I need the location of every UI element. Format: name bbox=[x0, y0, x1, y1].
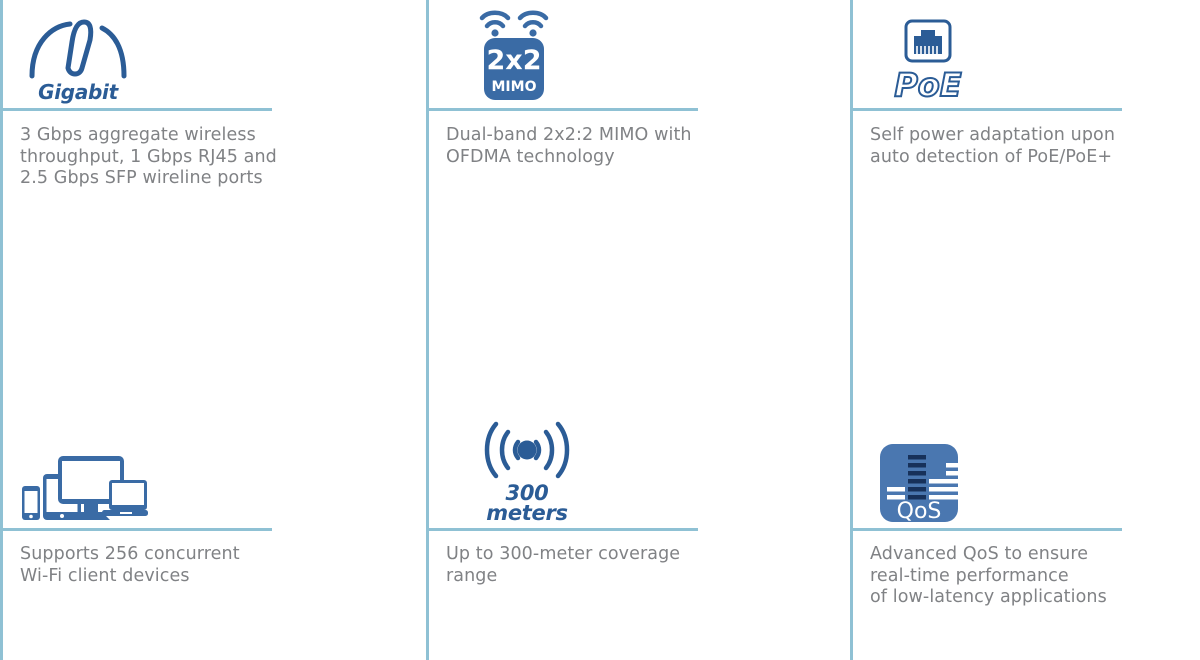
column-divider-vertical bbox=[426, 420, 429, 660]
feature-cell-coverage: 300 meters Up to 300-meter coverage rang… bbox=[426, 210, 850, 420]
poe-description: Self power adaptation upon auto detectio… bbox=[870, 125, 1170, 168]
cell-divider-horizontal bbox=[426, 108, 698, 111]
feature-cell-mimo: 2x2 MIMO Dual-band 2x2:2 MIMO with OFDMA… bbox=[426, 0, 850, 210]
column-divider-vertical bbox=[850, 420, 853, 660]
poe-icon-area: PoE bbox=[850, 0, 978, 104]
feature-cell-qos: QoS Advanced QoS to ensure real-time per… bbox=[850, 210, 1200, 420]
feature-cell-poe: PoE Self power adaptation upon auto dete… bbox=[850, 0, 1200, 210]
gigabit-description: 3 Gbps aggregate wireless throughput, 1 … bbox=[20, 125, 320, 190]
feature-cell-clients: Supports 256 concurrent Wi-Fi client dev… bbox=[0, 210, 426, 420]
feature-grid: Gigabit 3 Gbps aggregate wireless throug… bbox=[0, 0, 1200, 660]
svg-text:MIMO: MIMO bbox=[492, 79, 537, 95]
poe-rj45-icon: PoE bbox=[878, 18, 978, 104]
cell-divider-horizontal bbox=[850, 108, 1122, 111]
feature-cell-management: Embedded controller manages up to 50 loc… bbox=[850, 420, 1200, 660]
feature-cell-security: Anti-hacking secure boot and critical da… bbox=[0, 420, 426, 660]
2x2-mimo-wifi-icon: 2x2 MIMO bbox=[474, 4, 554, 104]
column-divider-vertical bbox=[0, 420, 3, 660]
gigabit-speedometer-icon bbox=[22, 18, 134, 80]
gigabit-icon-label: Gigabit bbox=[38, 80, 118, 104]
column-divider-vertical bbox=[850, 210, 853, 420]
cell-divider-horizontal bbox=[0, 108, 272, 111]
mimo-icon-area: 2x2 MIMO bbox=[426, 0, 554, 104]
svg-text:2x2: 2x2 bbox=[487, 45, 542, 76]
mimo-description: Dual-band 2x2:2 MIMO with OFDMA technolo… bbox=[446, 125, 746, 168]
gigabit-icon-area: Gigabit bbox=[0, 0, 134, 104]
column-divider-vertical bbox=[0, 210, 3, 420]
feature-cell-antennas: Flexibility of 5 internal antennas bbox=[426, 420, 850, 660]
column-divider-vertical bbox=[426, 210, 429, 420]
svg-text:PoE: PoE bbox=[894, 66, 961, 104]
feature-cell-gigabit: Gigabit 3 Gbps aggregate wireless throug… bbox=[0, 0, 426, 210]
